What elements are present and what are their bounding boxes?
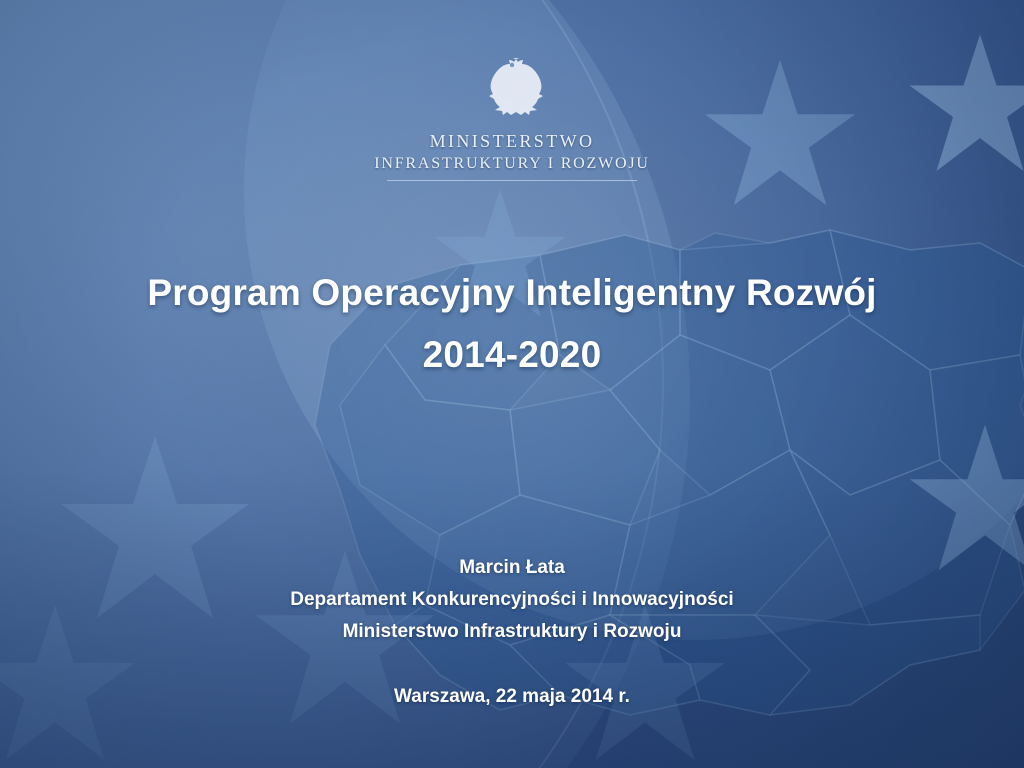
place-and-date: Warszawa, 22 maja 2014 r. — [0, 686, 1024, 708]
polish-eagle-emblem-icon — [468, 52, 556, 124]
ministry-emblem-block: MINISTERSTWO INFRASTRUKTURY I ROZWOJU — [0, 52, 1024, 181]
author-name: Marcin Łata — [0, 552, 1024, 584]
presentation-slide: MINISTERSTWO INFRASTRUKTURY I ROZWOJU Pr… — [0, 0, 1024, 768]
author-department: Departament Konkurencyjności i Innowacyj… — [0, 584, 1024, 616]
ministry-name-line-2: INFRASTRUKTURY I ROZWOJU — [0, 155, 1024, 173]
slide-title-block: Program Operacyjny Inteligentny Rozwój 2… — [0, 262, 1024, 386]
slide-title-line-2: 2014-2020 — [0, 324, 1024, 386]
ministry-divider — [387, 180, 637, 181]
ministry-name-line-1: MINISTERSTWO — [0, 131, 1024, 152]
author-institution: Ministerstwo Infrastruktury i Rozwoju — [0, 616, 1024, 648]
slide-title-line-1: Program Operacyjny Inteligentny Rozwój — [0, 262, 1024, 324]
slide-author-block: Marcin Łata Departament Konkurencyjności… — [0, 552, 1024, 708]
